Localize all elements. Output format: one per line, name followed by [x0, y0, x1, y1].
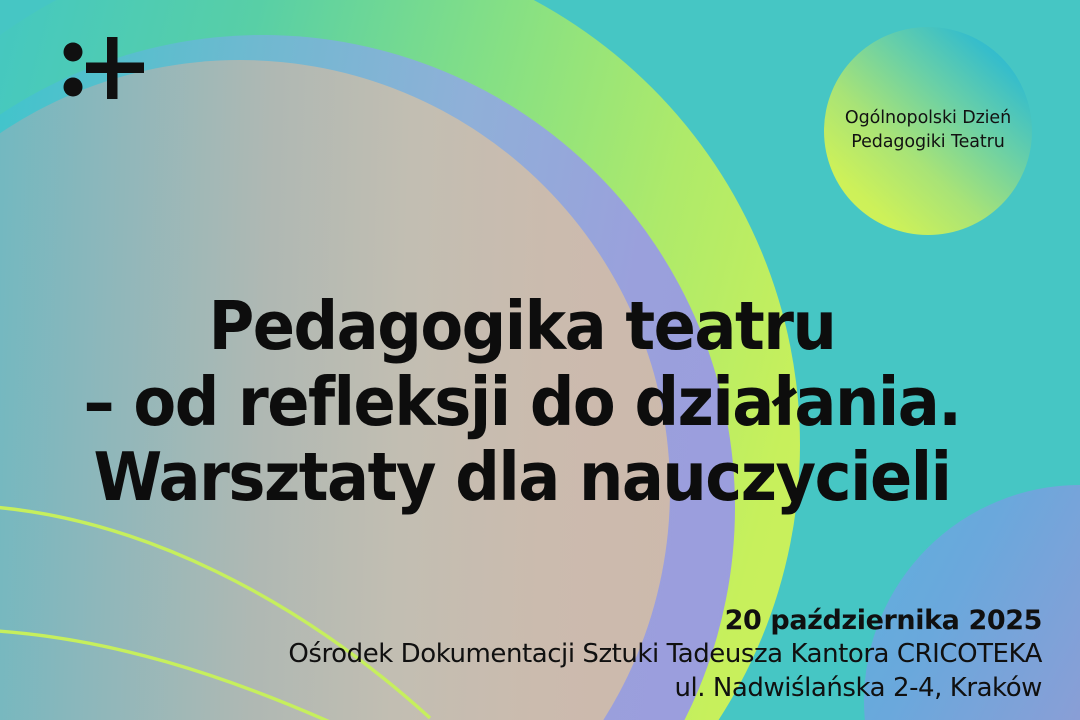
- event-venue: Ośrodek Dokumentacji Sztuki Tadeusza Kan…: [288, 638, 1042, 672]
- poster-footer: 20 października 2025 Ośrodek Dokumentacj…: [288, 603, 1042, 706]
- event-date: 20 października 2025: [288, 603, 1042, 639]
- poster-title: Pedagogika teatru – od refleksji do dzia…: [37, 289, 1008, 516]
- event-badge-line-2: Pedagogiki Teatru: [845, 131, 1011, 155]
- event-badge-line-1: Ogólnopolski Dzień: [845, 107, 1011, 131]
- event-address: ul. Nadwiślańska 2-4, Kraków: [288, 672, 1042, 706]
- colon-plus-logo-icon: [62, 32, 152, 104]
- poster-canvas: Ogólnopolski Dzień Pedagogiki Teatru Ped…: [0, 0, 1080, 720]
- logo-plus-horizontal: [86, 63, 144, 74]
- logo-dot-upper: [64, 43, 83, 62]
- logo-dot-lower: [64, 78, 83, 97]
- decor-arc-lower: [0, 630, 330, 720]
- event-badge-text: Ogólnopolski Dzień Pedagogiki Teatru: [845, 107, 1011, 154]
- event-badge: Ogólnopolski Dzień Pedagogiki Teatru: [824, 27, 1032, 235]
